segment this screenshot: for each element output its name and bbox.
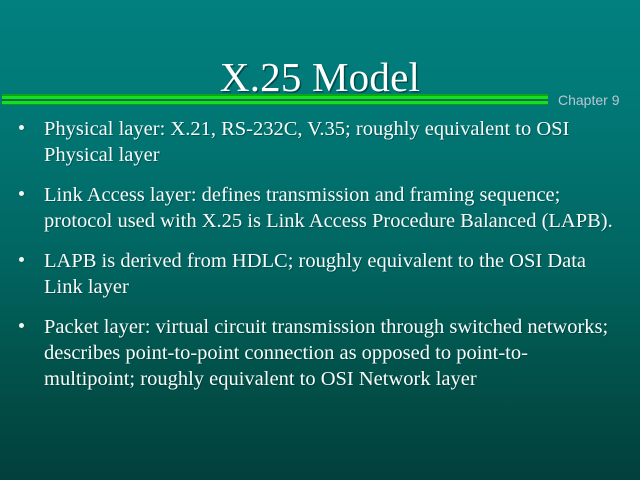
presentation-slide: X.25 Model Chapter 9 Physical layer: X.2…	[0, 0, 640, 480]
title-divider-row: Chapter 9	[0, 92, 640, 114]
list-item: LAPB is derived from HDLC; roughly equiv…	[0, 248, 640, 300]
bullet-dot-icon	[19, 323, 24, 328]
list-item: Physical layer: X.21, RS-232C, V.35; rou…	[0, 116, 640, 168]
slide-body: Physical layer: X.21, RS-232C, V.35; rou…	[0, 116, 640, 392]
chapter-label: Chapter 9	[558, 92, 619, 108]
bullet-text: LAPB is derived from HDLC; roughly equiv…	[44, 248, 616, 300]
bullet-text: Link Access layer: defines transmission …	[44, 182, 616, 234]
bullet-text: Physical layer: X.21, RS-232C, V.35; rou…	[44, 116, 616, 168]
bullet-dot-icon	[19, 191, 24, 196]
list-item: Link Access layer: defines transmission …	[0, 182, 640, 234]
bullet-dot-icon	[19, 257, 24, 262]
green-divider-rule	[2, 94, 548, 105]
list-item: Packet layer: virtual circuit transmissi…	[0, 314, 640, 392]
rule-stripe-5	[2, 104, 548, 105]
bullet-dot-icon	[19, 125, 24, 130]
bullet-text: Packet layer: virtual circuit transmissi…	[44, 314, 616, 392]
